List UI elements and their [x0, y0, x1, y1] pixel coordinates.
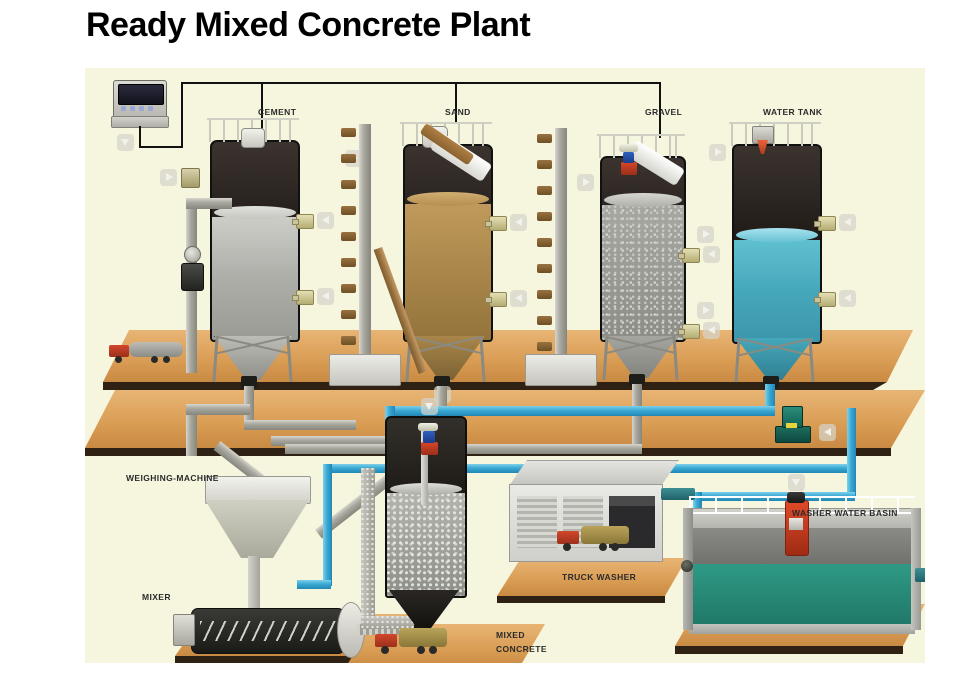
basin-water: [689, 564, 915, 630]
label-weighing-machine: WEIGHING-MACHINE: [126, 473, 219, 484]
basin-pump-cap: [787, 492, 805, 503]
tank-water-shell: [732, 144, 822, 344]
silo-gravel-fill: [602, 205, 684, 340]
silo-gravel-valve-handle[interactable]: [619, 144, 638, 152]
mixer-truck-wheel: [429, 646, 437, 654]
flow-valve-indicator: [786, 423, 797, 428]
silo-cement-motor-tag[interactable]: [160, 169, 177, 186]
mixer-body[interactable]: [191, 608, 345, 654]
storage-tank-valve-handle[interactable]: [418, 423, 438, 431]
basin-pump-plate: [789, 518, 803, 530]
mixer-truck-wheel: [417, 646, 425, 654]
storage-tank-top-tag[interactable]: [421, 398, 438, 415]
tank-water-side-tag-lower[interactable]: [697, 302, 714, 319]
silo-cement-motor[interactable]: [181, 168, 200, 188]
tank-water-inlet-tag[interactable]: [709, 144, 726, 161]
mixer-truck-loading: [373, 628, 451, 656]
cement-elbow-run: [186, 404, 250, 415]
water-main-run: [385, 406, 775, 416]
truck-washer-door-1: [517, 496, 557, 548]
page-title: Ready Mixed Concrete Plant: [86, 6, 530, 45]
silo-cement-fill: [212, 217, 298, 340]
cement-tanker-truck: [107, 340, 185, 366]
storage-tank-valve-red[interactable]: [421, 442, 438, 455]
gravel-elevator-buckets: [537, 128, 555, 376]
silo-sand-fill: [405, 204, 491, 340]
label-mixer: MIXER: [142, 592, 171, 603]
silo-gravel-sensor-tag-upper[interactable]: [703, 246, 720, 263]
water-mixer-drop: [323, 464, 332, 586]
gravel-downpipe: [632, 384, 642, 452]
label-washer-basin: WASHER WATER BASIN: [792, 508, 898, 519]
tanker-wheel: [151, 356, 158, 363]
silo-cement-inlet: [241, 128, 265, 148]
mixer-screw: [200, 621, 336, 641]
control-panel-button[interactable]: [121, 106, 126, 111]
tank-water-sensor-tag-upper[interactable]: [839, 214, 856, 231]
basin-outlet-pipe: [915, 568, 925, 582]
water-branch-mixer: [323, 464, 391, 473]
mixer-truck-drum: [399, 628, 447, 647]
weighing-machine-hopper: [205, 500, 309, 558]
label-cement: CEMENT: [258, 107, 296, 118]
mixer-motor[interactable]: [173, 614, 195, 646]
wash-truck-cab: [557, 531, 579, 544]
basin-front-wall: [689, 624, 915, 634]
tank-water-sensor-box[interactable]: [818, 216, 836, 231]
sand-bucket-elevator: [359, 124, 371, 380]
weighing-machine-top: [205, 476, 311, 504]
storage-tank-fill: [387, 493, 465, 596]
silo-gravel-sensor-tag-lower[interactable]: [703, 322, 720, 339]
silo-gravel-sensor-box[interactable]: [682, 248, 700, 263]
silo-cement[interactable]: [210, 140, 296, 338]
gravel-bucket-elevator: [555, 128, 567, 380]
storage-tank-valve-blue[interactable]: [423, 431, 435, 443]
label-gravel: GRAVEL: [645, 107, 682, 118]
silo-gravel-valve-blue[interactable]: [623, 152, 634, 163]
cement-run-pipe: [244, 420, 356, 430]
basin-inlet-port: [681, 560, 693, 572]
tank-water-sensor-box-2[interactable]: [818, 292, 836, 307]
silo-sand-sensor-box-2[interactable]: [489, 292, 507, 307]
tanker-barrel: [129, 342, 183, 357]
tank-water-side-tag[interactable]: [697, 226, 714, 243]
silo-gravel-feed-tag[interactable]: [577, 174, 594, 191]
flow-valve-body[interactable]: [775, 426, 811, 443]
mixer-truck-cab: [375, 634, 397, 647]
signal-wire: [139, 146, 183, 148]
label-mixed-concrete-line1: MIXED: [496, 630, 525, 641]
sand-elevator-base: [329, 354, 401, 386]
signal-wire: [139, 126, 141, 148]
mixer-truck-wheel: [381, 646, 389, 654]
label-sand: SAND: [445, 107, 471, 118]
water-to-basin: [847, 408, 856, 498]
water-mixer-inlet: [297, 580, 331, 589]
cement-riser-valve[interactable]: [181, 263, 204, 291]
tank-water-fill: [734, 240, 820, 342]
silo-sand-sensor-box[interactable]: [489, 216, 507, 231]
signal-wire: [181, 82, 183, 148]
control-panel-sensor-tag[interactable]: [117, 134, 134, 151]
tank-water-railing: [729, 122, 821, 144]
sand-elevator-buckets: [341, 124, 359, 374]
gravel-elevator-base: [525, 354, 597, 386]
wash-truck-wheel: [611, 543, 619, 551]
control-panel-button[interactable]: [148, 106, 153, 111]
label-truck-washer: TRUCK WASHER: [562, 572, 636, 583]
silo-cement-shell: [210, 140, 300, 342]
diagram-canvas: CEMENT SAND GRAVEL WATER TANK WEIGHING-M…: [85, 68, 925, 663]
mixer-truck-washing: [555, 526, 635, 552]
aggregate-conveyor-v: [361, 468, 375, 628]
tank-water-sensor-tag-lower[interactable]: [839, 290, 856, 307]
platform-basin-edge: [675, 646, 903, 654]
silo-sand-sensor-tag-lower[interactable]: [510, 290, 527, 307]
control-panel-button[interactable]: [130, 106, 135, 111]
wash-truck-wheel: [599, 543, 607, 551]
platform-truck-washer-edge: [497, 596, 665, 603]
tanker-wheel: [115, 356, 122, 363]
silo-gravel-sensor-box-2[interactable]: [682, 324, 700, 339]
basin-pump-tag[interactable]: [788, 474, 805, 491]
silo-cement-sensor-tag-lower[interactable]: [317, 288, 334, 305]
cement-riser-gauge: [184, 246, 201, 263]
silo-sand-sensor-tag-upper[interactable]: [510, 214, 527, 231]
label-water-tank: WATER TANK: [763, 107, 822, 118]
wash-truck-drum: [581, 526, 629, 544]
tank-water-surface: [736, 228, 818, 242]
cement-riser-elbow: [186, 198, 232, 209]
tank-water[interactable]: [732, 144, 818, 340]
silo-gravel-valve-red[interactable]: [621, 162, 637, 175]
tanker-wheel: [163, 356, 170, 363]
control-panel[interactable]: [113, 80, 167, 118]
silo-cement-sensor-tag-upper[interactable]: [317, 212, 334, 229]
control-panel-button[interactable]: [139, 106, 144, 111]
flow-valve-tag[interactable]: [819, 424, 836, 441]
silo-cement-sensor-box-2[interactable]: [296, 290, 314, 305]
control-panel-display: [118, 84, 164, 105]
silo-cement-sensor-box[interactable]: [296, 214, 314, 229]
label-mixed-concrete-line2: CONCRETE: [496, 644, 547, 655]
signal-wire: [181, 82, 661, 84]
wash-truck-wheel: [563, 543, 571, 551]
